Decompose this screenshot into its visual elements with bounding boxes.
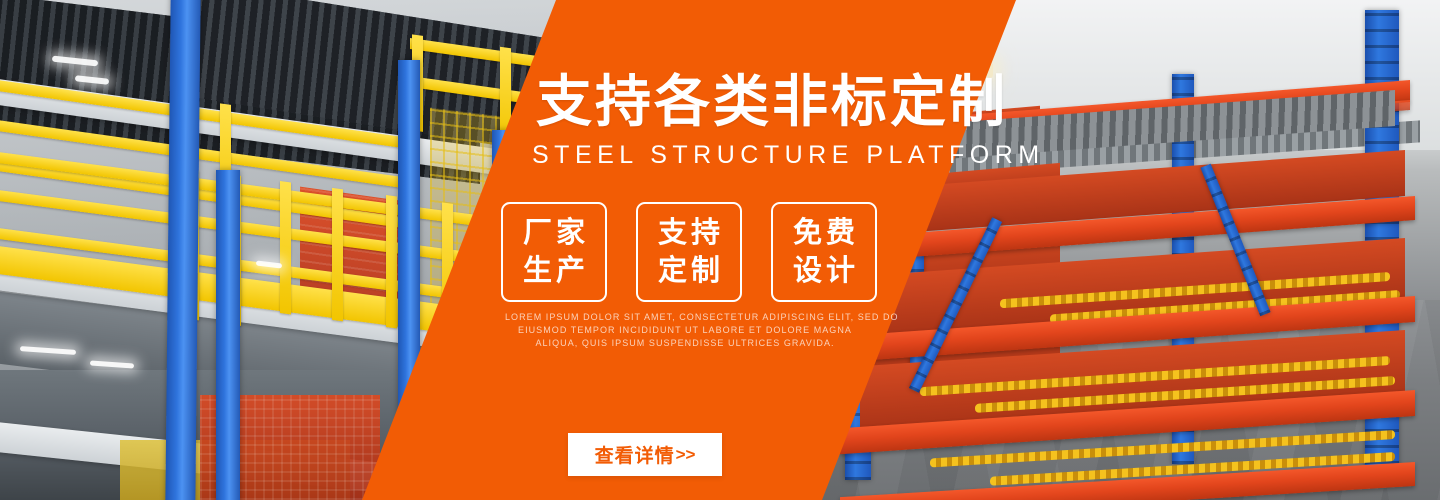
chevron-right-icon: >> (676, 445, 696, 465)
badge-line-2: 设计 (789, 252, 859, 290)
banner-content: 支持各类非标定制 STEEL STRUCTURE PLATFORM 厂家 生产 … (0, 0, 1440, 500)
description-line-2: EIUSMOD TEMPOR INCIDIDUNT UT LABORE ET D… (505, 324, 865, 337)
subtitle: STEEL STRUCTURE PLATFORM (532, 143, 1045, 168)
badge-line-1: 免费 (789, 214, 859, 252)
badge-line-2: 定制 (654, 252, 724, 290)
badge-line-2: 生产 (519, 252, 589, 290)
feature-badge-free-design[interactable]: 免费 设计 (771, 202, 877, 302)
feature-badge-manufacturer[interactable]: 厂家 生产 (501, 202, 607, 302)
feature-badge-customization[interactable]: 支持 定制 (636, 202, 742, 302)
description-text: LOREM IPSUM DOLOR SIT AMET, CONSECTETUR … (505, 311, 865, 350)
badge-line-1: 厂家 (519, 214, 589, 252)
cta-label: 查看详情 (595, 441, 675, 468)
promo-banner: 支持各类非标定制 STEEL STRUCTURE PLATFORM 厂家 生产 … (0, 0, 1440, 500)
feature-badge-list: 厂家 生产 支持 定制 免费 设计 (501, 202, 877, 302)
page-title: 支持各类非标定制 (536, 74, 1008, 130)
description-line-3: ALIQUA, QUIS IPSUM SUSPENDISSE ULTRICES … (505, 337, 865, 350)
badge-line-1: 支持 (654, 214, 724, 252)
view-details-button[interactable]: 查看详情>> (568, 433, 722, 476)
description-line-1: LOREM IPSUM DOLOR SIT AMET, CONSECTETUR … (505, 311, 865, 324)
